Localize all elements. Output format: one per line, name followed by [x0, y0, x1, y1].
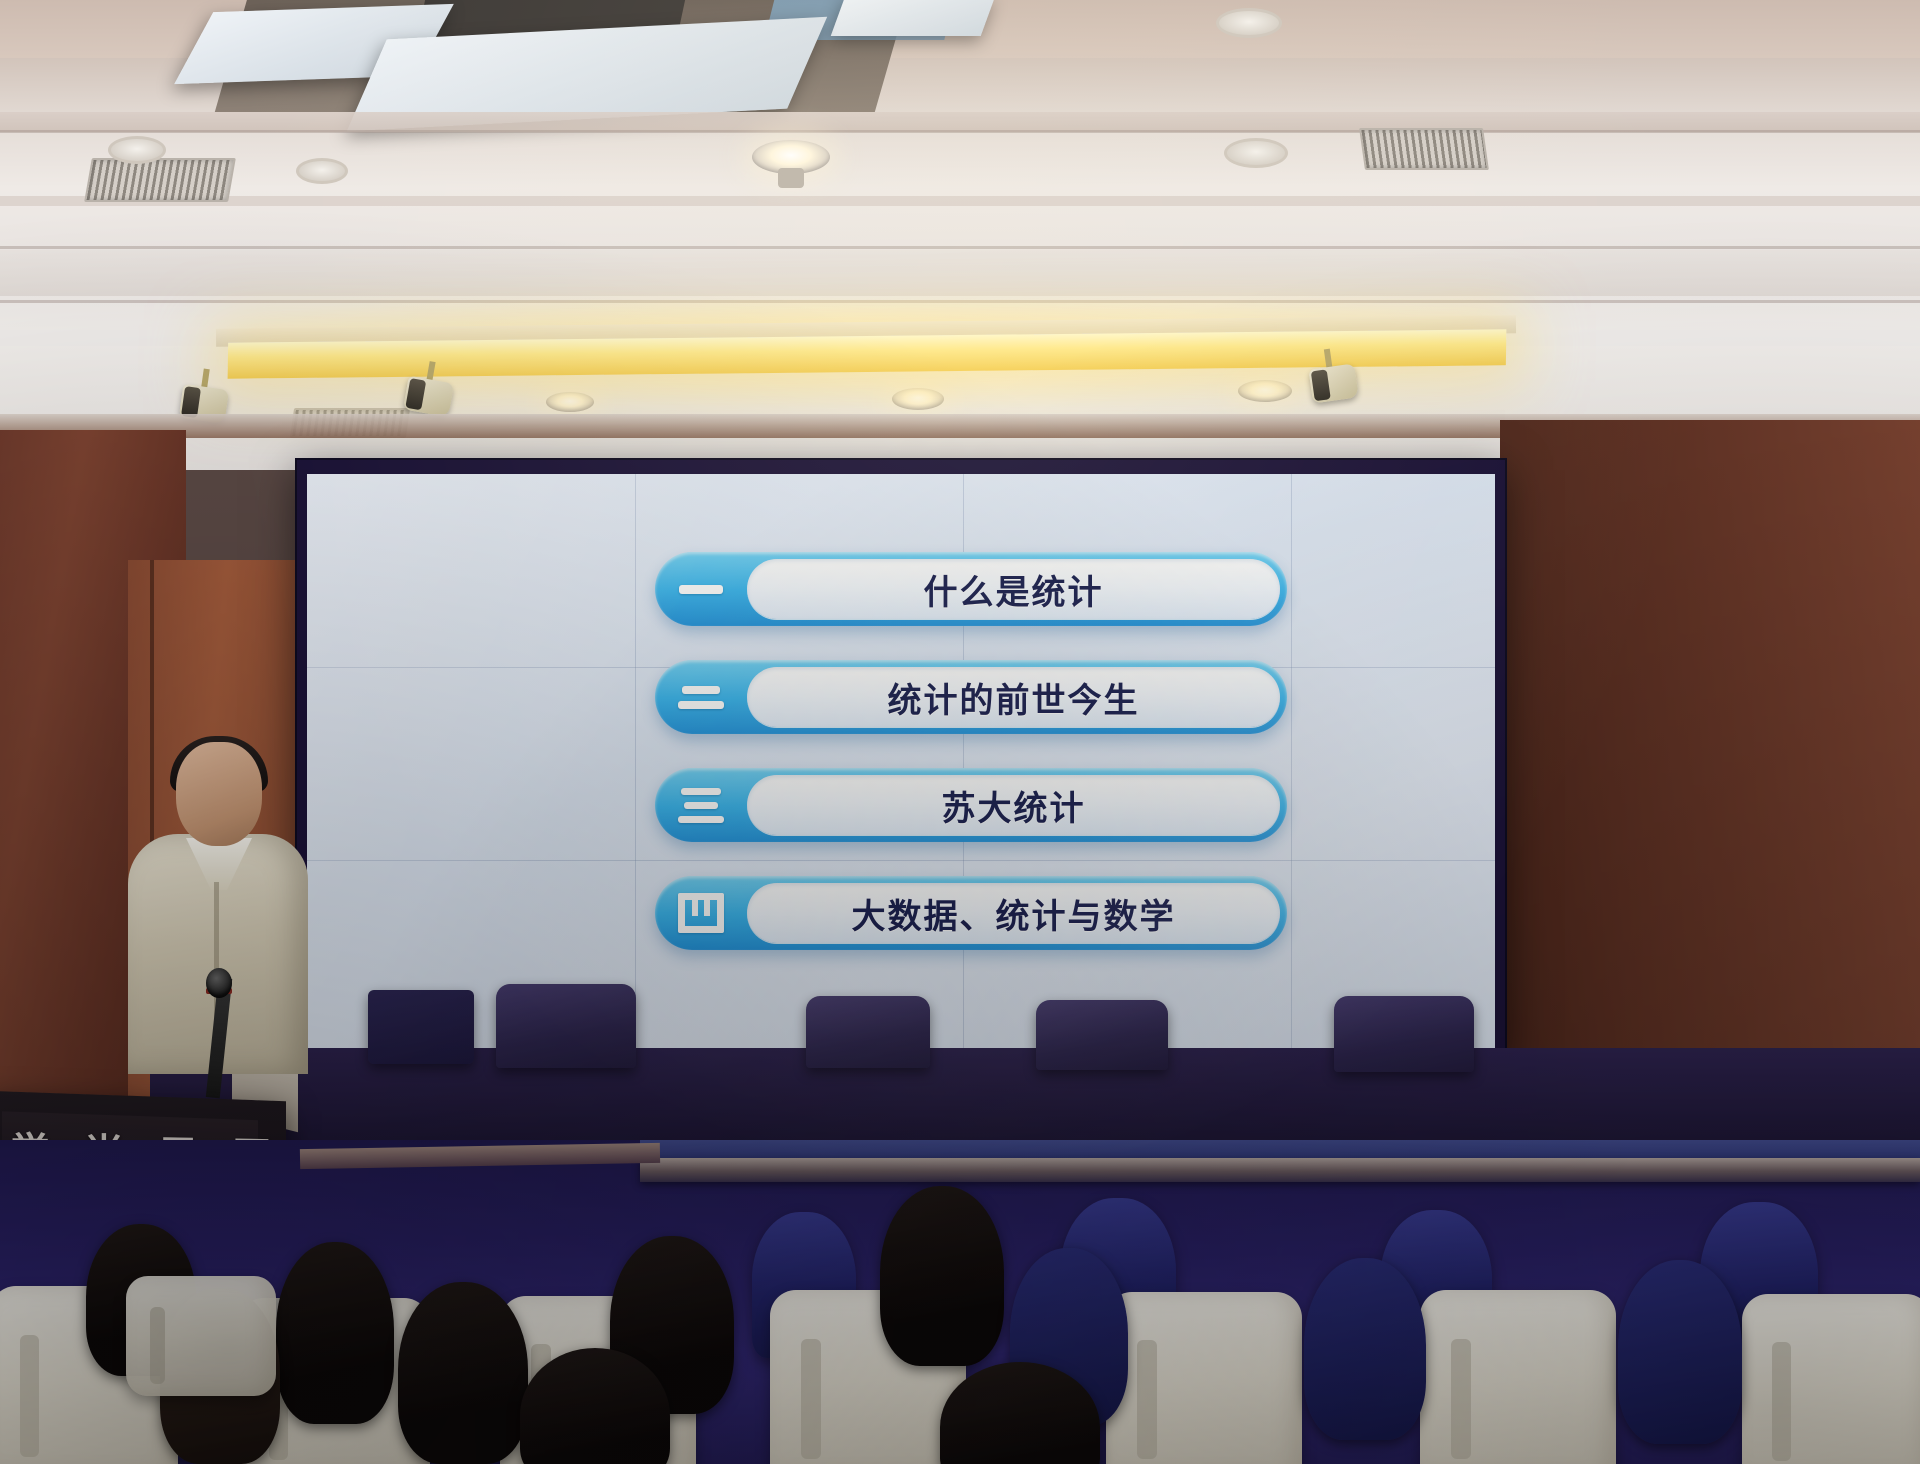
audience-seat: [1420, 1290, 1616, 1464]
audience-head: [1618, 1260, 1742, 1444]
agenda-item-4-label: 大数据、统计与数学: [852, 889, 1176, 938]
agenda-item-1-body: 什么是统计: [747, 559, 1280, 619]
speaker-head: [176, 742, 262, 846]
audience-head: [398, 1282, 528, 1464]
stage-chair: [806, 996, 930, 1068]
microphone-icon: [206, 968, 232, 998]
recessed-downlight: [296, 158, 348, 184]
stage-chair: [1334, 996, 1474, 1072]
agenda-item-4-body: 大数据、统计与数学: [747, 883, 1280, 943]
recessed-downlight: [1224, 138, 1288, 168]
lecture-hall-photo: 什么是统计 统计的前世今生 苏大统计: [0, 0, 1920, 1464]
recessed-downlight: [108, 136, 166, 164]
audience-rail: [300, 1143, 660, 1169]
ceiling-seam: [0, 300, 1920, 303]
led-video-wall: 什么是统计 统计的前世今生 苏大统计: [297, 460, 1505, 1060]
recessed-downlight: [892, 388, 944, 410]
agenda-item-1[interactable]: 什么是统计: [655, 552, 1287, 626]
downlight-stem-icon: [778, 168, 804, 188]
agenda-item-3[interactable]: 苏大统计: [655, 768, 1287, 842]
agenda-list: 什么是统计 统计的前世今生 苏大统计: [655, 552, 1287, 950]
ceiling-band: [0, 250, 1920, 296]
agenda-item-4[interactable]: 大数据、统计与数学: [655, 876, 1287, 950]
numeral-two-icon: [655, 660, 747, 734]
stage-chair: [496, 984, 636, 1068]
agenda-item-2-label: 统计的前世今生: [888, 673, 1140, 722]
stage-chair: [1036, 1000, 1168, 1070]
recessed-downlight: [1216, 8, 1282, 38]
ceiling-seam: [0, 130, 1920, 133]
ceiling-band: [0, 196, 1920, 206]
numeral-four-icon: [655, 876, 747, 950]
speaker-person: [128, 742, 308, 1072]
audience-rail: [640, 1158, 1920, 1182]
numeral-three-icon: [655, 768, 747, 842]
agenda-item-1-label: 什么是统计: [924, 565, 1104, 614]
right-wall: [1500, 420, 1920, 1140]
agenda-item-2[interactable]: 统计的前世今生: [655, 660, 1287, 734]
recessed-downlight: [546, 392, 594, 412]
agenda-item-2-body: 统计的前世今生: [747, 667, 1280, 727]
audience-area: [0, 1140, 1920, 1464]
hvac-vent-icon: [84, 158, 236, 202]
audience-seat: [1106, 1292, 1302, 1464]
ceiling-panel: [831, 0, 996, 36]
numeral-one-icon: [655, 552, 747, 626]
hvac-vent-icon: [1359, 128, 1489, 170]
agenda-item-3-label: 苏大统计: [942, 781, 1086, 830]
stage-chair: [368, 990, 474, 1064]
agenda-item-3-body: 苏大统计: [747, 775, 1280, 835]
audience-head: [1304, 1258, 1426, 1440]
audience-head: [880, 1186, 1004, 1366]
recessed-downlight: [1238, 380, 1292, 402]
ceiling-band: [0, 112, 1920, 132]
audience-seat: [1742, 1294, 1920, 1464]
presentation-slide: 什么是统计 统计的前世今生 苏大统计: [307, 474, 1495, 1052]
ceiling-seam: [0, 246, 1920, 249]
ceiling: [0, 0, 1920, 470]
audience-head: [276, 1242, 394, 1424]
audience-seat: [126, 1276, 276, 1396]
